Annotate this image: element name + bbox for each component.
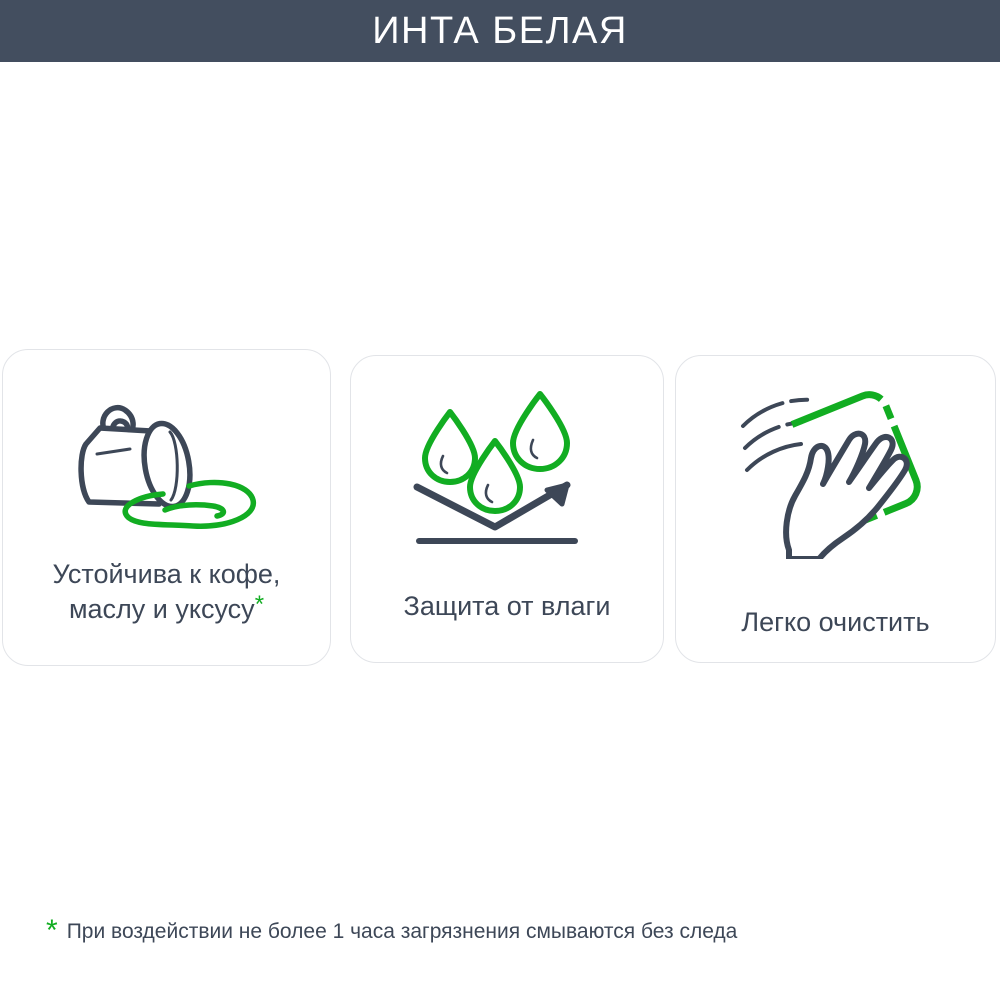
footnote-text: При воздействии не более 1 часа загрязне… bbox=[67, 918, 738, 945]
hand-wiping-cloth-icon bbox=[731, 384, 941, 559]
label-line-1: Защита от влаги bbox=[404, 591, 611, 621]
footnote: * При воздействии не более 1 часа загряз… bbox=[46, 918, 956, 946]
feature-card-easy-clean[interactable]: Легко очистить bbox=[675, 355, 996, 663]
asterisk-icon: * bbox=[46, 916, 58, 946]
feature-card-label: Защита от влаги bbox=[396, 589, 619, 624]
feature-cards-row: Устойчива к кофе, маслу и уксусу* bbox=[0, 349, 1000, 669]
label-line-1: Устойчива к кофе, bbox=[53, 559, 281, 589]
header-band: ИНТА БЕЛАЯ bbox=[0, 0, 1000, 62]
feature-card-label: Устойчива к кофе, маслу и уксусу* bbox=[45, 557, 289, 626]
page-title: ИНТА БЕЛАЯ bbox=[372, 12, 628, 50]
spilled-coffee-mug-icon bbox=[67, 392, 267, 537]
feature-card-stain-resistance[interactable]: Устойчива к кофе, маслу и уксусу* bbox=[2, 349, 331, 666]
footnote-marker-icon: * bbox=[255, 591, 264, 618]
feature-card-moisture-protection[interactable]: Защита от влаги bbox=[350, 355, 664, 663]
label-line-1: Легко очистить bbox=[741, 607, 929, 637]
feature-card-label: Легко очистить bbox=[733, 605, 937, 640]
water-drops-repel-icon bbox=[407, 388, 607, 553]
label-line-2: маслу и уксусу bbox=[69, 594, 255, 624]
